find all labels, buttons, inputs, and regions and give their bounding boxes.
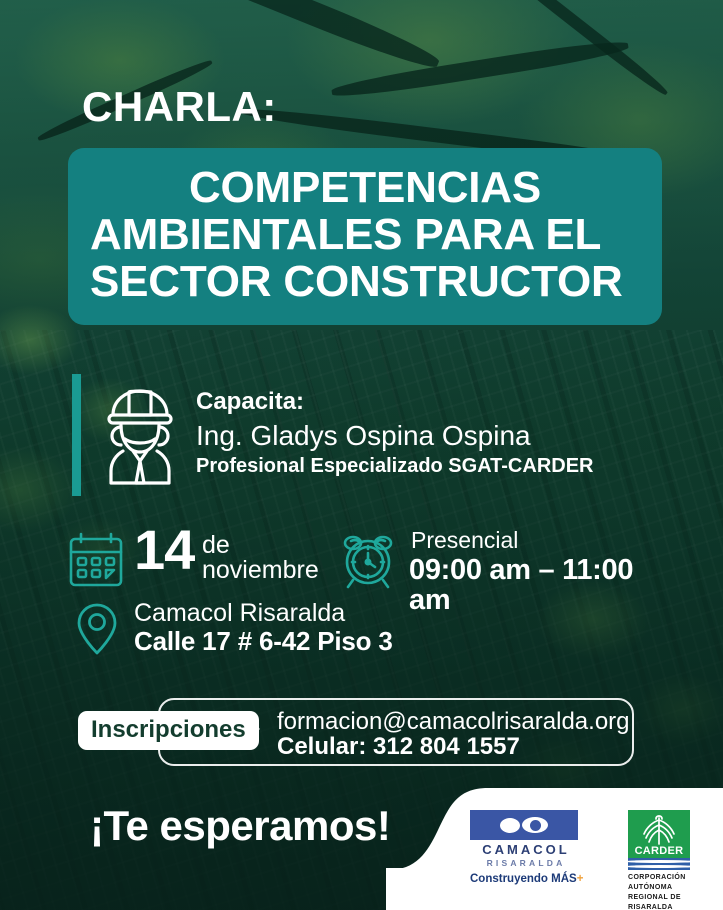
venue-name: Camacol Risaralda bbox=[134, 600, 345, 628]
camacol-logo: CAMACOL RISARALDA Construyendo MÁS+ bbox=[470, 810, 582, 885]
camacol-mark-dot bbox=[500, 818, 520, 833]
camacol-logo-mark bbox=[470, 810, 578, 840]
carder-subtitle-line: RISARALDA bbox=[628, 903, 694, 910]
calendar-icon bbox=[68, 530, 124, 588]
carder-water-bands bbox=[628, 858, 690, 870]
alarm-clock-icon bbox=[337, 528, 399, 590]
camacol-tagline-text: Construyendo MÁS bbox=[470, 873, 577, 885]
poster-kicker: CHARLA: bbox=[82, 86, 277, 128]
fern-tree-icon bbox=[628, 810, 690, 846]
title-line-3: SECTOR CONSTRUCTOR bbox=[90, 258, 640, 305]
map-pin-icon bbox=[74, 602, 120, 656]
registration-pill[interactable]: Inscripciones bbox=[78, 711, 259, 750]
venue-address: Calle 17 # 6-42 Piso 3 bbox=[134, 627, 393, 656]
event-modality: Presencial bbox=[411, 528, 518, 552]
chevron-right-icon: › bbox=[252, 714, 261, 740]
event-month: noviembre bbox=[202, 557, 319, 583]
carder-name: CARDER bbox=[628, 845, 690, 857]
speaker-name: Ing. Gladys Ospina Ospina bbox=[196, 418, 594, 453]
carder-subtitle-line: AUTÓNOMA bbox=[628, 883, 694, 893]
carder-subtitle-line: CORPORACIÓN bbox=[628, 873, 694, 883]
carder-subtitle: CORPORACIÓN AUTÓNOMA REGIONAL DE RISARAL… bbox=[628, 873, 694, 910]
accent-bar bbox=[72, 374, 81, 496]
date-preposition: de bbox=[202, 532, 230, 558]
camacol-mark-ring bbox=[522, 817, 548, 833]
camacol-tagline: Construyendo MÁS+ bbox=[470, 873, 582, 885]
event-day: 14 bbox=[134, 522, 194, 578]
carder-logo: CARDER CORPORACIÓN AUTÓNOMA REGIONAL DE … bbox=[628, 810, 694, 910]
registration-phone[interactable]: Celular: 312 804 1557 bbox=[277, 733, 520, 761]
speaker-role: Profesional Especializado SGAT-CARDER bbox=[196, 454, 594, 479]
footer-logos: CAMACOL RISARALDA Construyendo MÁS+ bbox=[470, 810, 694, 910]
event-poster: CHARLA: COMPETENCIAS AMBIENTALES PARA EL… bbox=[0, 0, 723, 910]
location-row: Camacol Risaralda Calle 17 # 6-42 Piso 3 bbox=[66, 598, 626, 660]
title-line-1: COMPETENCIAS bbox=[90, 164, 640, 211]
carder-subtitle-line: REGIONAL DE bbox=[628, 893, 694, 903]
camacol-name: CAMACOL bbox=[470, 842, 582, 857]
camacol-region: RISARALDA bbox=[470, 858, 582, 868]
poster-title-box: COMPETENCIAS AMBIENTALES PARA EL SECTOR … bbox=[68, 148, 662, 325]
title-line-2: AMBIENTALES PARA EL bbox=[90, 211, 640, 258]
construction-worker-icon bbox=[101, 381, 179, 487]
speaker-block: Capacita: Ing. Gladys Ospina Ospina Prof… bbox=[196, 388, 594, 479]
speaker-label: Capacita: bbox=[196, 388, 594, 416]
camacol-tagline-plus: + bbox=[577, 873, 584, 885]
carder-logo-mark: CARDER bbox=[628, 810, 690, 858]
date-time-row: 14 de noviembre Presencial 09:00 am – 11… bbox=[66, 524, 666, 594]
